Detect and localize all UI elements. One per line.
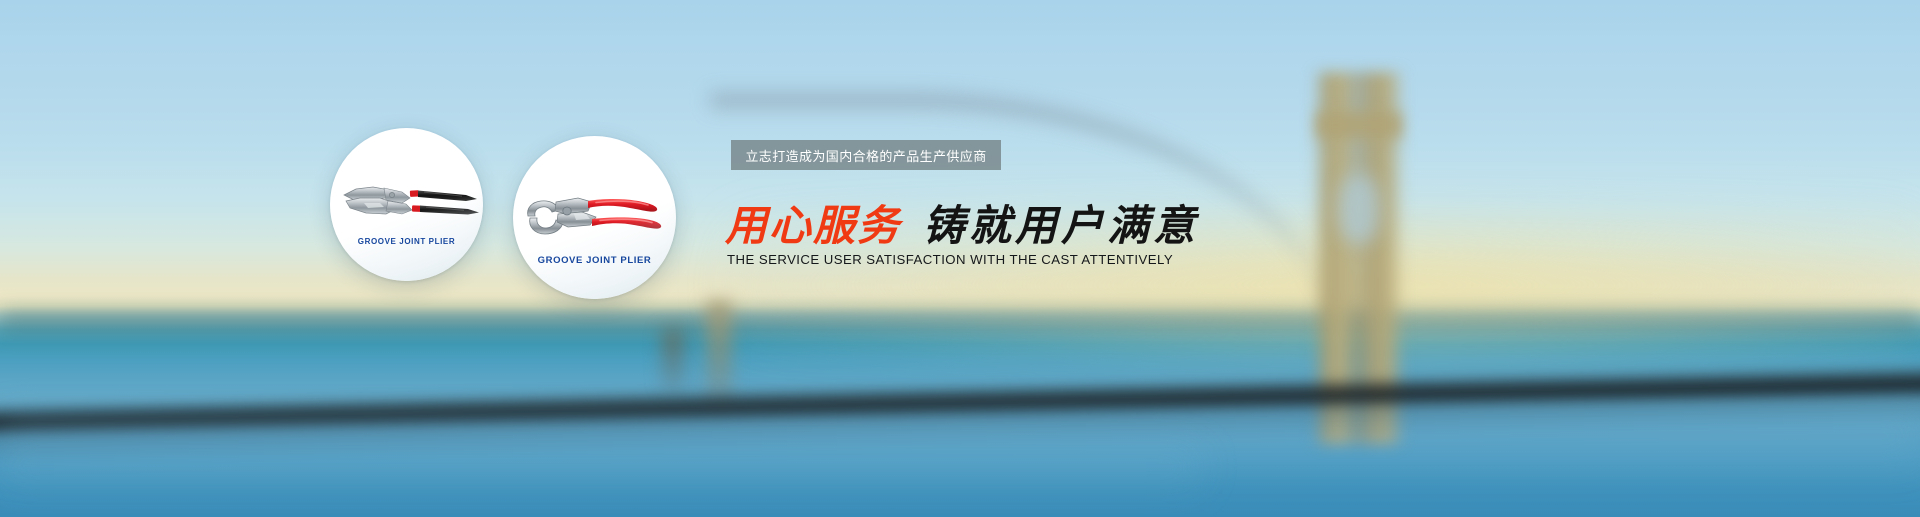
- headline-dark-text: 铸就用户满意: [923, 205, 1199, 247]
- groove-joint-plier-black-icon: [340, 176, 480, 228]
- bridge-tower-opening: [1338, 175, 1380, 243]
- hero-banner: GROOVE JOINT PLIER: [0, 0, 1920, 517]
- product-circle-2[interactable]: GROOVE JOINT PLIER: [513, 136, 676, 299]
- product-label-2: GROOVE JOINT PLIER: [513, 255, 676, 266]
- headline: 用心服务 铸就用户满意: [725, 198, 1195, 254]
- bridge-pier-far: [663, 330, 683, 392]
- groove-joint-plier-red-icon: [522, 184, 672, 246]
- water-highlight-lower: [0, 452, 1200, 498]
- subtitle: THE SERVICE USER SATISFACTION WITH THE C…: [727, 252, 1197, 267]
- circle-gloss-2: [513, 136, 676, 299]
- bridge-tower-crossbeam: [1316, 112, 1402, 138]
- product-circle-1[interactable]: GROOVE JOINT PLIER: [330, 128, 483, 281]
- circle-gloss-1: [330, 128, 483, 281]
- caption-bar: 立志打造成为国内合格的产品生产供应商: [731, 140, 1001, 170]
- headline-accent-text: 用心服务: [725, 205, 901, 247]
- product-label-1: GROOVE JOINT PLIER: [330, 237, 483, 246]
- caption-text: 立志打造成为国内合格的产品生产供应商: [745, 146, 986, 165]
